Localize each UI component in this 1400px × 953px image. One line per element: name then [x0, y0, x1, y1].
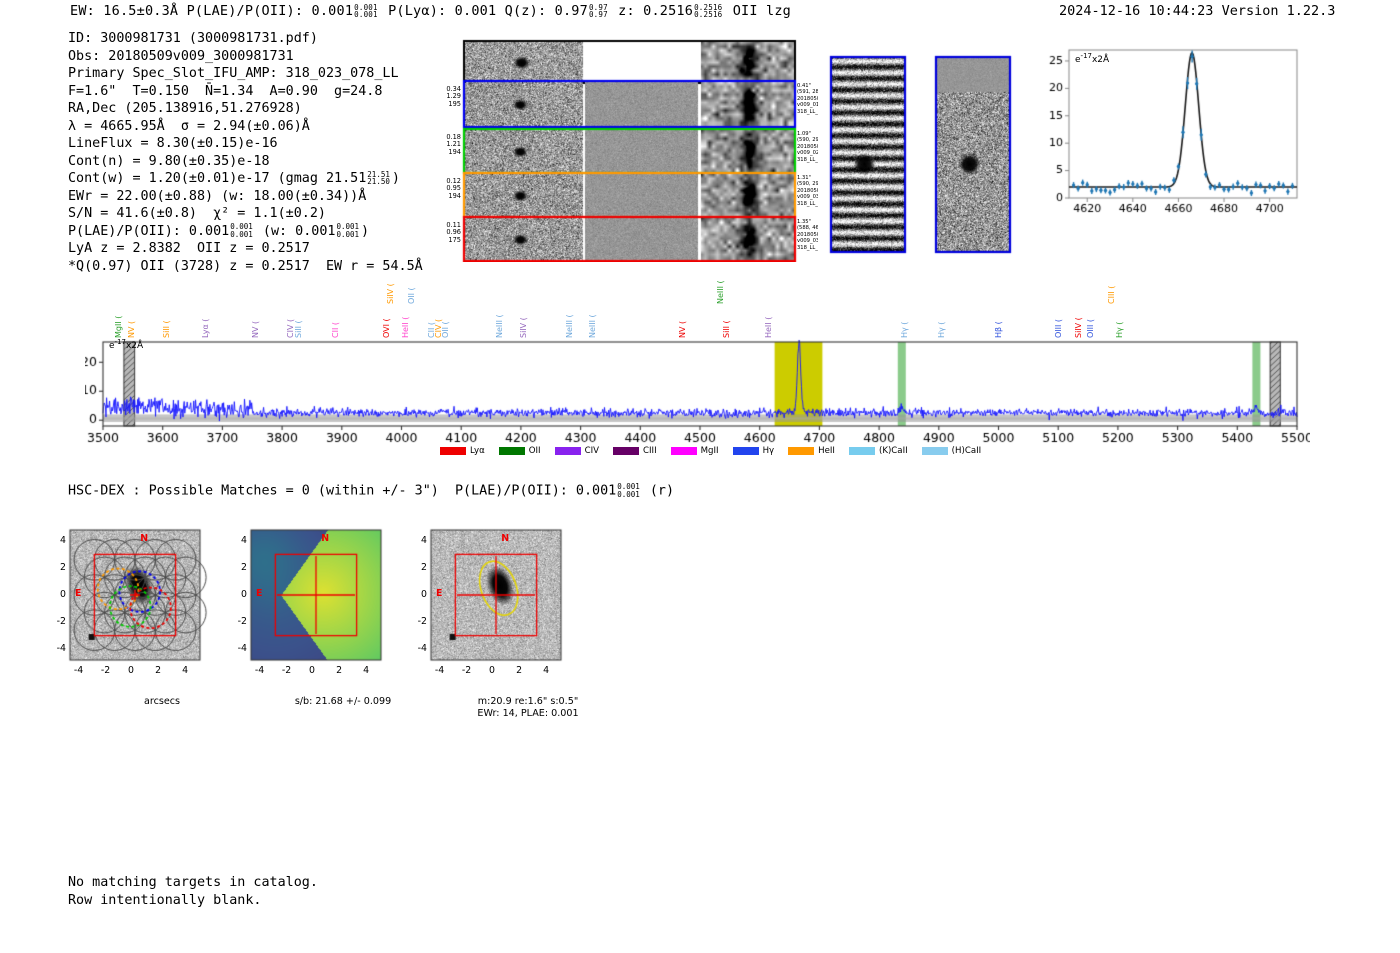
info-primary-spec: Primary Spec_Slot_IFU_AMP: 318_023_078_L…	[68, 65, 423, 83]
spec2d-row-left-label-0: 0.34 1.29 195	[425, 86, 461, 108]
spectrum-line-label-25: Hβ (	[994, 321, 1003, 338]
spectrum-line-label-14: OII (	[441, 321, 450, 338]
footer-line-1: No matching targets in catalog.	[68, 875, 318, 890]
panel-0-xtick-0: -4	[74, 665, 83, 676]
panel-0-ytick-1: -2	[50, 616, 66, 627]
panel-xlabel-arcsecs: arcsecs	[62, 696, 262, 708]
info-snr: S/N = 41.6(±0.8) χ² = 1.1(±0.2)	[68, 205, 423, 223]
spectrum-flux-unit-label: e-17x2Å	[109, 338, 143, 351]
panel-1-ytick-2: 0	[231, 589, 247, 600]
legend-label-7: (K)CaII	[879, 446, 908, 456]
legend-item-1: OII	[499, 446, 541, 456]
cutouts-canvas	[818, 30, 1028, 265]
full-spectrum-chart: MgII (NV (SiII (Lyα (NV (CIV (SiII (CII …	[85, 280, 1310, 460]
spectrum-line-label-20: NeIII (	[716, 280, 725, 304]
timestamp: 2024-12-16 10:44:23	[1059, 3, 1213, 19]
panel-0-ytick-3: 2	[50, 562, 66, 573]
qz-fraction: 0.970.97	[589, 4, 608, 19]
panel-1-xtick-1: -2	[282, 665, 291, 676]
info-id: ID: 3000981731 (3000981731.pdf)	[68, 30, 423, 48]
header-summary-z: z: 0.2516	[618, 3, 693, 19]
panel-1-ytick-3: 2	[231, 562, 247, 573]
header-summary-tail: OII lzg	[733, 3, 791, 19]
panel-2-xtick-1: -2	[462, 665, 471, 676]
panel-2-ytick-4: 4	[411, 535, 427, 546]
spectrum-line-label-8: OVI (	[382, 318, 391, 338]
panel-0-compass-east: E	[75, 588, 81, 599]
spectrum-line-label-6: SiII (	[294, 320, 303, 338]
panel-0-xtick-2: 0	[128, 665, 134, 676]
panel-0-compass-north: N	[140, 533, 148, 544]
header-summary-prefix: EW: 16.5±0.3Å P(LAE)/P(OII): 0.001	[70, 3, 353, 19]
legend-item-4: MgII	[671, 446, 719, 456]
plae-fraction-2: 0.0010.001	[336, 223, 359, 238]
footer-line-2: Row intentionally blank.	[68, 893, 261, 908]
spectrum-line-label-9: SiIV (	[386, 283, 395, 304]
inset-flux-unit-label: e-17x2Å	[1075, 52, 1109, 65]
hsc-dex-match-line: HSC-DEX : Possible Matches = 0 (within +…	[68, 483, 674, 499]
footer-note: No matching targets in catalog. Row inte…	[68, 874, 318, 909]
spectrum-line-label-3: Lyα (	[201, 319, 210, 338]
legend-label-6: HeII	[818, 446, 835, 456]
version-label: Version 1.22.3	[1222, 3, 1336, 19]
legend-item-7: (K)CaII	[849, 446, 908, 456]
spectrum-line-label-28: OIII (	[1086, 319, 1095, 338]
panel-1-xtick-4: 4	[363, 665, 369, 676]
spectrum-line-label-10: HeII (	[401, 317, 410, 338]
legend-item-8: (H)CaII	[922, 446, 982, 456]
spectrum-line-label-17: NeIII (	[565, 314, 574, 338]
panel-caption-lineflux: s/b: 21.68 +/- 0.099	[243, 696, 443, 708]
panel-0-ytick-2: 0	[50, 589, 66, 600]
info-plae: P(LAE)/P(OII): 0.0010.0010.001 (w: 0.001…	[68, 223, 423, 241]
panel-2-compass-east: E	[436, 588, 442, 599]
legend-item-2: CIV	[555, 446, 599, 456]
spectrum-line-label-7: CII (	[331, 322, 340, 338]
spec2d-row-left-label-3: 0.11 0.96 175	[425, 222, 461, 244]
spectrum-line-label-4: NV (	[251, 321, 260, 338]
legend-label-5: Hγ	[763, 446, 775, 456]
info-lineflux: LineFlux = 8.30(±0.15)e-16	[68, 135, 423, 153]
spectrum-line-label-26: OIII (	[1054, 319, 1063, 338]
emission-line-inset-chart: e-17x2Å	[1035, 42, 1305, 220]
header-timestamp-version: 2024-12-16 10:44:23 Version 1.22.3	[1059, 3, 1335, 19]
legend-item-5: Hγ	[733, 446, 775, 456]
legend-swatch-2	[555, 447, 581, 455]
spectrum-line-label-30: Hγ (	[1115, 322, 1124, 338]
panel-caption-hsc: m:20.9 re:1.6" s:0.5" EWr: 14, PLAE: 0.0…	[423, 696, 633, 720]
legend-swatch-5	[733, 447, 759, 455]
info-redshifts: LyA z = 2.8382 OII z = 0.2517	[68, 240, 423, 258]
info-best-solution: *Q(0.97) OII (3728) z = 0.2517 EW r = 54…	[68, 258, 423, 276]
bottom-panels-canvas	[40, 508, 620, 723]
info-obs: Obs: 20180509v009_3000981731	[68, 48, 423, 66]
panel-1-compass-north: N	[321, 533, 329, 544]
panel-1-xtick-2: 0	[309, 665, 315, 676]
spec2d-block: 2D Spec Pixel Flat Smoothed Weighted Sum…	[425, 30, 805, 262]
info-radec: RA,Dec (205.138916,51.276928)	[68, 100, 423, 118]
legend-label-0: Lyα	[470, 446, 485, 456]
panel-2-compass-north: N	[501, 533, 509, 544]
legend-swatch-3	[613, 447, 639, 455]
panel-1-ytick-0: -4	[231, 643, 247, 654]
panel-2-ytick-3: 2	[411, 562, 427, 573]
panel-2-xtick-3: 2	[516, 665, 522, 676]
spectrum-line-label-19: NV (	[678, 321, 687, 338]
info-cont-w: Cont(w) = 1.20(±0.01)e-17 (gmag 21.5121.…	[68, 170, 423, 188]
legend-label-3: CIII	[643, 446, 657, 456]
panel-0-xtick-3: 2	[155, 665, 161, 676]
panel-1-xtick-0: -4	[255, 665, 264, 676]
panel-0-ytick-0: -4	[50, 643, 66, 654]
spectrum-line-label-0: MgII (	[114, 316, 123, 338]
legend-item-0: Lyα	[440, 446, 485, 456]
spectrum-line-label-21: SiII (	[722, 320, 731, 338]
legend-swatch-1	[499, 447, 525, 455]
spectrum-line-label-2: SiII (	[162, 320, 171, 338]
legend-swatch-4	[671, 447, 697, 455]
target-info-block: ID: 3000981731 (3000981731.pdf) Obs: 201…	[68, 30, 423, 275]
spec2d-row-left-label-2: 0.12 0.95 194	[425, 178, 461, 200]
full-spectrum-canvas	[85, 280, 1310, 460]
header-summary-mid: P(Lyα): 0.001 Q(z): 0.97	[388, 3, 588, 19]
legend-label-8: (H)CaII	[952, 446, 982, 456]
info-lambda: λ = 4665.95Å σ = 2.94(±0.06)Å	[68, 118, 423, 136]
panel-2-ytick-2: 0	[411, 589, 427, 600]
spectrum-line-label-18: NeIII (	[588, 314, 597, 338]
legend-swatch-0	[440, 447, 466, 455]
spectrum-line-label-16: SiIV (	[519, 317, 528, 338]
spectrum-line-label-22: HeII (	[764, 317, 773, 338]
inset-canvas	[1035, 42, 1305, 267]
plae-fraction-1: 0.0010.001	[230, 223, 253, 238]
hsc-plae-fraction: 0.0010.001	[617, 483, 640, 498]
panel-2-ytick-0: -4	[411, 643, 427, 654]
legend-item-3: CIII	[613, 446, 657, 456]
panel-1-xtick-3: 2	[336, 665, 342, 676]
info-params: F=1.6" T=0.150 N̄=1.34 A=0.90 g=24.8	[68, 83, 423, 101]
panel-0-ytick-4: 4	[50, 535, 66, 546]
panel-0-xtick-4: 4	[182, 665, 188, 676]
bottom-panels-block: Fiber Positions Lineflux Map HSC(26.2) r…	[40, 508, 620, 723]
z-fraction: 0.25160.2516	[694, 4, 722, 19]
spec2d-canvas	[425, 30, 805, 262]
info-cont-n: Cont(n) = 9.80(±0.35)e-18	[68, 153, 423, 171]
panel-2-xtick-4: 4	[543, 665, 549, 676]
panel-1-ytick-1: -2	[231, 616, 247, 627]
spectrum-line-label-11: OII (	[407, 287, 416, 304]
spectrum-line-label-1: NV (	[127, 321, 136, 338]
legend-swatch-7	[849, 447, 875, 455]
spectrum-line-label-15: NeIII (	[495, 314, 504, 338]
panel-2-xtick-2: 0	[489, 665, 495, 676]
legend-label-4: MgII	[701, 446, 719, 456]
panel-2-xtick-0: -4	[435, 665, 444, 676]
spectrum-line-label-23: Hγ (	[900, 322, 909, 338]
panel-2-ytick-1: -2	[411, 616, 427, 627]
info-ewr: EWr = 22.00(±0.88) (w: 18.00(±0.34))Å	[68, 188, 423, 206]
spectrum-line-label-29: CIII (	[1107, 286, 1116, 304]
panel-0-xtick-1: -2	[101, 665, 110, 676]
spectrum-line-label-24: Hγ (	[937, 322, 946, 338]
legend-swatch-6	[788, 447, 814, 455]
plae-fraction: 0.0010.001	[354, 4, 378, 19]
panel-1-compass-east: E	[256, 588, 262, 599]
legend-label-1: OII	[529, 446, 541, 456]
spectrum-line-label-27: SiIV (	[1074, 317, 1083, 338]
legend-label-2: CIV	[585, 446, 599, 456]
spectrum-legend: LyαOIICIVCIIIMgIIHγHeII(K)CaII(H)CaII	[440, 446, 995, 457]
legend-item-6: HeII	[788, 446, 835, 456]
gmag-fraction: 21.5121.50	[367, 171, 390, 186]
cutouts-block: With Skyx, y: 591, 285 Clean Imagex, y: …	[818, 30, 1028, 265]
spec2d-row-left-label-1: 0.18 1.21 194	[425, 134, 461, 156]
legend-swatch-8	[922, 447, 948, 455]
header-summary-line: EW: 16.5±0.3Å P(LAE)/P(OII): 0.0010.0010…	[70, 3, 791, 19]
panel-1-ytick-4: 4	[231, 535, 247, 546]
